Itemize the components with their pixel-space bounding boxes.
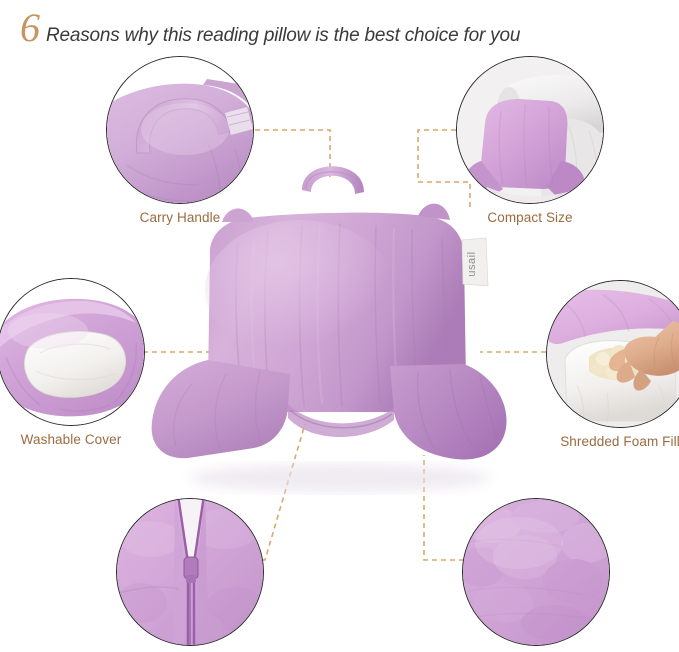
- infographic-header: 6 Reasons why this reading pillow is the…: [20, 8, 520, 48]
- pillow-shadow: [190, 464, 490, 492]
- pillow-left-arm: [152, 360, 290, 458]
- feature-washable-cover-image: [0, 278, 145, 426]
- feature-carry-handle[interactable]: Carry Handle: [106, 56, 254, 225]
- pillow-carry-handle: [302, 166, 364, 194]
- svg-text:usail: usail: [466, 251, 478, 276]
- feature-shredded-foam-fill[interactable]: Shredded Foam Fill: [546, 280, 679, 449]
- feature-velour-image: [462, 498, 610, 646]
- product-infographic: 6 Reasons why this reading pillow is the…: [0, 0, 679, 652]
- feature-washable-cover[interactable]: Washable Cover: [0, 278, 145, 447]
- feature-carry-handle-image: [106, 56, 254, 204]
- feature-foam-fill-image: [546, 280, 679, 428]
- feature-zipper-closure[interactable]: Zipper Closure: [116, 498, 264, 652]
- product-brand-tag: usail: [462, 238, 488, 286]
- feature-washable-cover-label: Washable Cover: [0, 432, 145, 447]
- header-title: Reasons why this reading pillow is the b…: [46, 25, 520, 47]
- feature-compact-size[interactable]: Compact Size: [456, 56, 604, 225]
- header-reason-count: 6: [20, 8, 39, 48]
- feature-zipper-image: [116, 498, 264, 646]
- feature-compact-size-image: [456, 56, 604, 204]
- feature-breathable-soft-velour[interactable]: Breathable Soft Velour: [462, 498, 610, 652]
- feature-foam-fill-label: Shredded Foam Fill: [546, 434, 679, 449]
- feature-compact-size-label: Compact Size: [456, 210, 604, 225]
- feature-carry-handle-label: Carry Handle: [106, 210, 254, 225]
